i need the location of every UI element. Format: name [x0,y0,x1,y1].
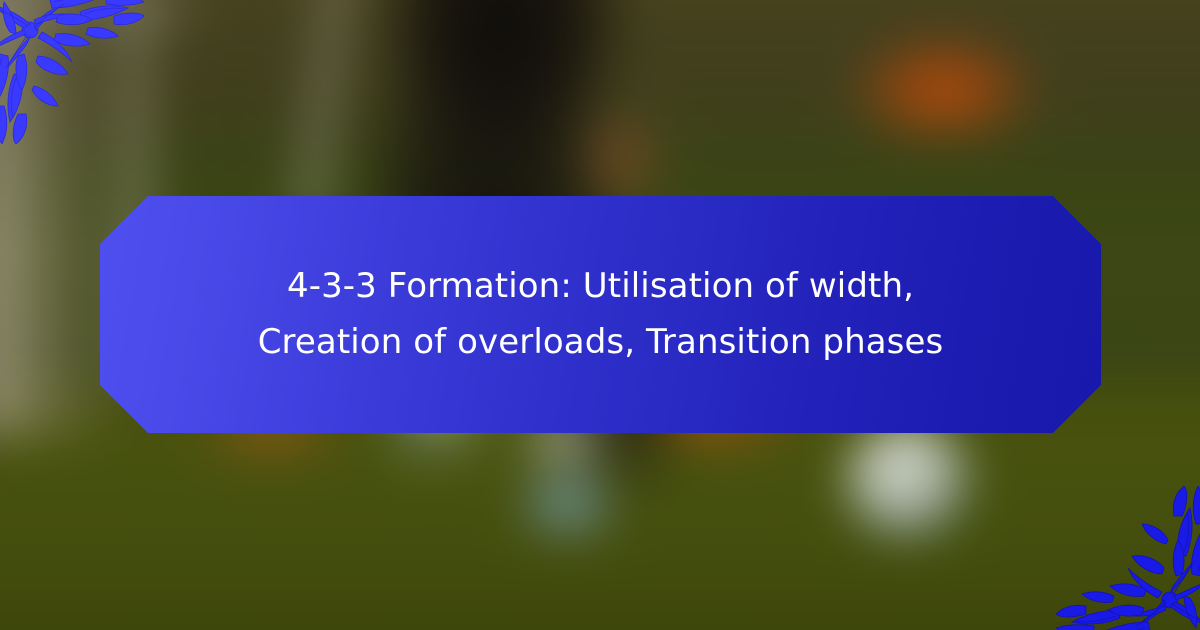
page-title: 4-3-3 Formation: Utilisation of width, C… [100,259,1101,369]
page-title-line-2: Creation of overloads, Transition phases [156,315,1045,370]
title-banner: 4-3-3 Formation: Utilisation of width, C… [100,196,1101,433]
page-title-line-1: 4-3-3 Formation: Utilisation of width, [156,259,1045,314]
title-card: 4-3-3 Formation: Utilisation of width, C… [0,0,1200,630]
